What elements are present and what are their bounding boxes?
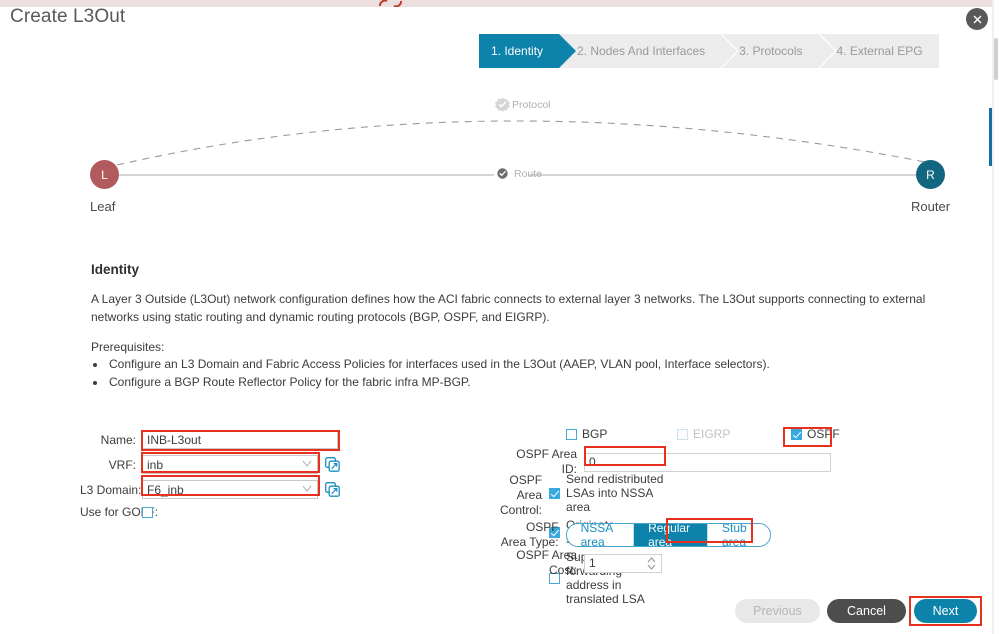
ospf-area-type-option-stub[interactable]: Stub area [708, 524, 770, 546]
name-input[interactable] [142, 430, 338, 449]
scrollbar-thumb[interactable] [994, 38, 998, 80]
leaf-badge-letter: L [101, 168, 108, 182]
next-button[interactable]: Next [914, 599, 977, 623]
ospf-checkbox[interactable] [791, 429, 802, 440]
identity-heading: Identity [91, 262, 139, 277]
send-redistributed-lsas-checkbox[interactable] [549, 488, 560, 499]
l3-domain-label: L3 Domain: [80, 483, 142, 497]
previous-button: Previous [735, 599, 820, 623]
ospf-area-type-segmented-control: NSSA area Regular area Stub area [566, 523, 771, 547]
ospf-area-cost-label: OSPF Area Cost: [500, 548, 584, 578]
ospf-area-type-option-nssa[interactable]: NSSA area [567, 524, 634, 546]
list-item: Configure an L3 Domain and Fabric Access… [107, 355, 971, 373]
topology-node-leaf: L [90, 160, 119, 189]
field-row-ospf-area-cost: OSPF Area Cost: [500, 548, 662, 578]
field-row-ospf-area-type: OSPF Area Type: NSSA area Regular area S… [500, 520, 771, 550]
vertical-scrollbar[interactable] [993, 0, 999, 634]
use-for-golf-label: Use for GOLF: [80, 505, 142, 519]
side-accent-marker [989, 108, 992, 166]
route-label: Route [514, 168, 542, 180]
topology-diagram [0, 0, 999, 260]
router-badge-letter: R [926, 168, 935, 182]
step-chevron-icon [819, 34, 836, 68]
protocol-checkbox-row: BGP EIGRP OSPF [566, 427, 836, 445]
identity-description: A Layer 3 Outside (L3Out) network config… [91, 290, 966, 326]
ospf-control-option-send-redistributed-lsas[interactable]: Send redistributed LSAs into NSSA area [549, 472, 667, 514]
ospf-area-type-label: OSPF Area Type: [500, 520, 566, 550]
ospf-area-type-option-regular[interactable]: Regular area [634, 524, 708, 546]
vrf-label: VRF: [80, 458, 142, 472]
cancel-button[interactable]: Cancel [827, 599, 906, 623]
dialog-footer: Previous Cancel Next [0, 598, 999, 634]
prerequisites-list: Configure an L3 Domain and Fabric Access… [91, 355, 971, 391]
field-row-vrf: VRF: [80, 455, 340, 474]
use-for-golf-checkbox[interactable] [142, 507, 153, 518]
protocol-label: Protocol [512, 99, 551, 111]
l3-domain-select[interactable] [142, 480, 318, 499]
bgp-label: BGP [582, 427, 607, 441]
list-item: Configure a BGP Route Reflector Policy f… [107, 373, 971, 391]
route-check-icon [497, 168, 508, 179]
ospf-area-control-label-line1: OSPF Area [500, 473, 542, 503]
field-row-l3-domain: L3 Domain: [80, 480, 340, 499]
l3-domain-launch-icon[interactable] [325, 482, 340, 497]
protocol-seal-check-icon [494, 97, 511, 114]
ospf-area-id-input[interactable] [584, 453, 831, 472]
topology-node-router: R [916, 160, 945, 189]
prerequisites-label: Prerequisites: [91, 340, 164, 354]
topology-label-router: Router [911, 199, 950, 214]
ospf-area-control-label-line2: Control: [500, 503, 542, 518]
field-row-name: Name: [80, 430, 340, 449]
send-redistributed-lsas-label: Send redistributed LSAs into NSSA area [566, 472, 667, 514]
stepper-icon[interactable] [646, 556, 657, 571]
vrf-launch-icon[interactable] [325, 457, 340, 472]
protocol-bgp[interactable]: BGP [566, 427, 607, 441]
bgp-checkbox[interactable] [566, 429, 577, 440]
eigrp-label: EIGRP [693, 427, 730, 441]
step-chevron-icon [721, 34, 738, 68]
identity-form-left: Name: VRF: L3 Domain: [80, 430, 340, 525]
protocol-ospf[interactable]: OSPF [791, 427, 840, 441]
topology-label-leaf: Leaf [90, 199, 115, 214]
vrf-select[interactable] [142, 455, 318, 474]
field-row-use-for-golf: Use for GOLF: [80, 505, 340, 519]
protocol-eigrp: EIGRP [677, 427, 730, 441]
eigrp-checkbox [677, 429, 688, 440]
step-chevron-icon [559, 34, 576, 68]
ospf-label: OSPF [807, 427, 840, 441]
name-label: Name: [80, 433, 142, 447]
